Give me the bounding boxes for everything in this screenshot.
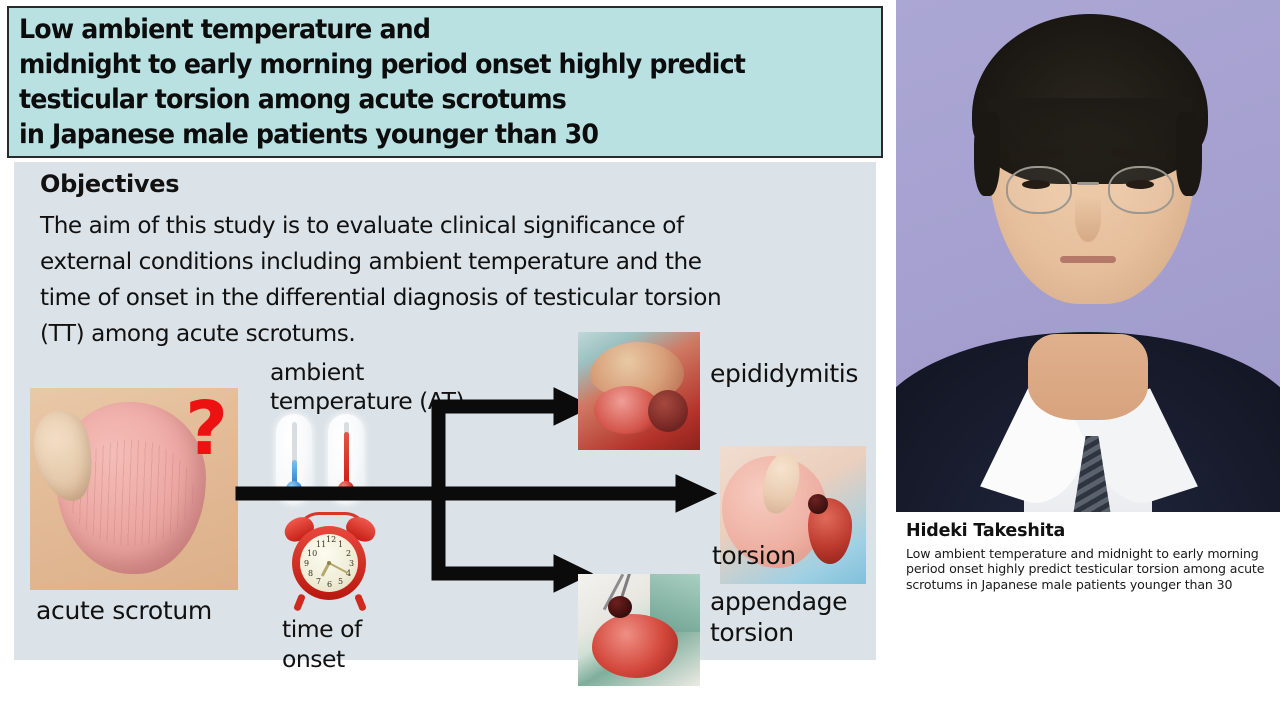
outcome-label-epididymitis: epididymitis [710,358,858,389]
speaker-name: Hideki Takeshita [906,521,1065,541]
arrow-middle-head [676,475,716,512]
eye-left [1022,180,1050,189]
slide-title-line-2: midnight to early morning period onset h… [19,47,842,82]
appendage-torsion-line-1: appendage [710,586,847,617]
appendage-torsion-photo [578,574,700,686]
mouth [1060,256,1116,263]
sideburn-right [1176,112,1202,196]
arrow-main-shaft [236,487,456,500]
torted-appendage-nodule [608,596,632,618]
outcome-label-appendage-torsion: appendage torsion [710,586,847,648]
epididymitis-testis [648,390,688,432]
eye-right [1126,180,1154,189]
appendage-torsion-line-2: torsion [710,617,847,648]
speaker-portrait [896,0,1280,512]
slide-title-line-4: in Japanese male patients younger than 3… [19,117,842,152]
slide-title-box: Low ambient temperature and midnight to … [7,6,883,158]
arrow-top-shaft [432,400,562,413]
arrow-bottom-shaft [432,567,562,580]
speaker-talk-title: Low ambient temperature and midnight to … [906,546,1272,592]
nose [1075,196,1101,242]
study-flow-diagram: ? acute scrotum ambient temperature (AT) [14,162,876,660]
presentation-slide: Low ambient temperature and midnight to … [0,0,896,668]
eyeglass-bridge [1077,182,1099,185]
epididymitis-photo [578,332,700,450]
appendage-tissue [592,614,678,678]
slide-title-line-1: Low ambient temperature and [19,12,842,47]
arrow-middle-shaft [444,487,684,500]
sideburn-left [974,112,1000,196]
eyeglass-lens-left [1006,166,1072,214]
slide-title-line-3: testicular torsion among acute scrotums [19,82,842,117]
arrow-trunk-vertical [432,400,445,580]
speaker-panel: Hideki Takeshita Low ambient temperature… [896,0,1280,720]
outcome-label-torsion: torsion [712,540,796,571]
slide-body-panel: Objectives The aim of this study is to e… [14,162,876,660]
slide-viewer: Low ambient temperature and midnight to … [0,0,1280,720]
hair [972,14,1208,184]
eyeglass-lens-right [1108,166,1174,214]
torsion-knot [808,494,828,514]
neck [1028,334,1148,420]
